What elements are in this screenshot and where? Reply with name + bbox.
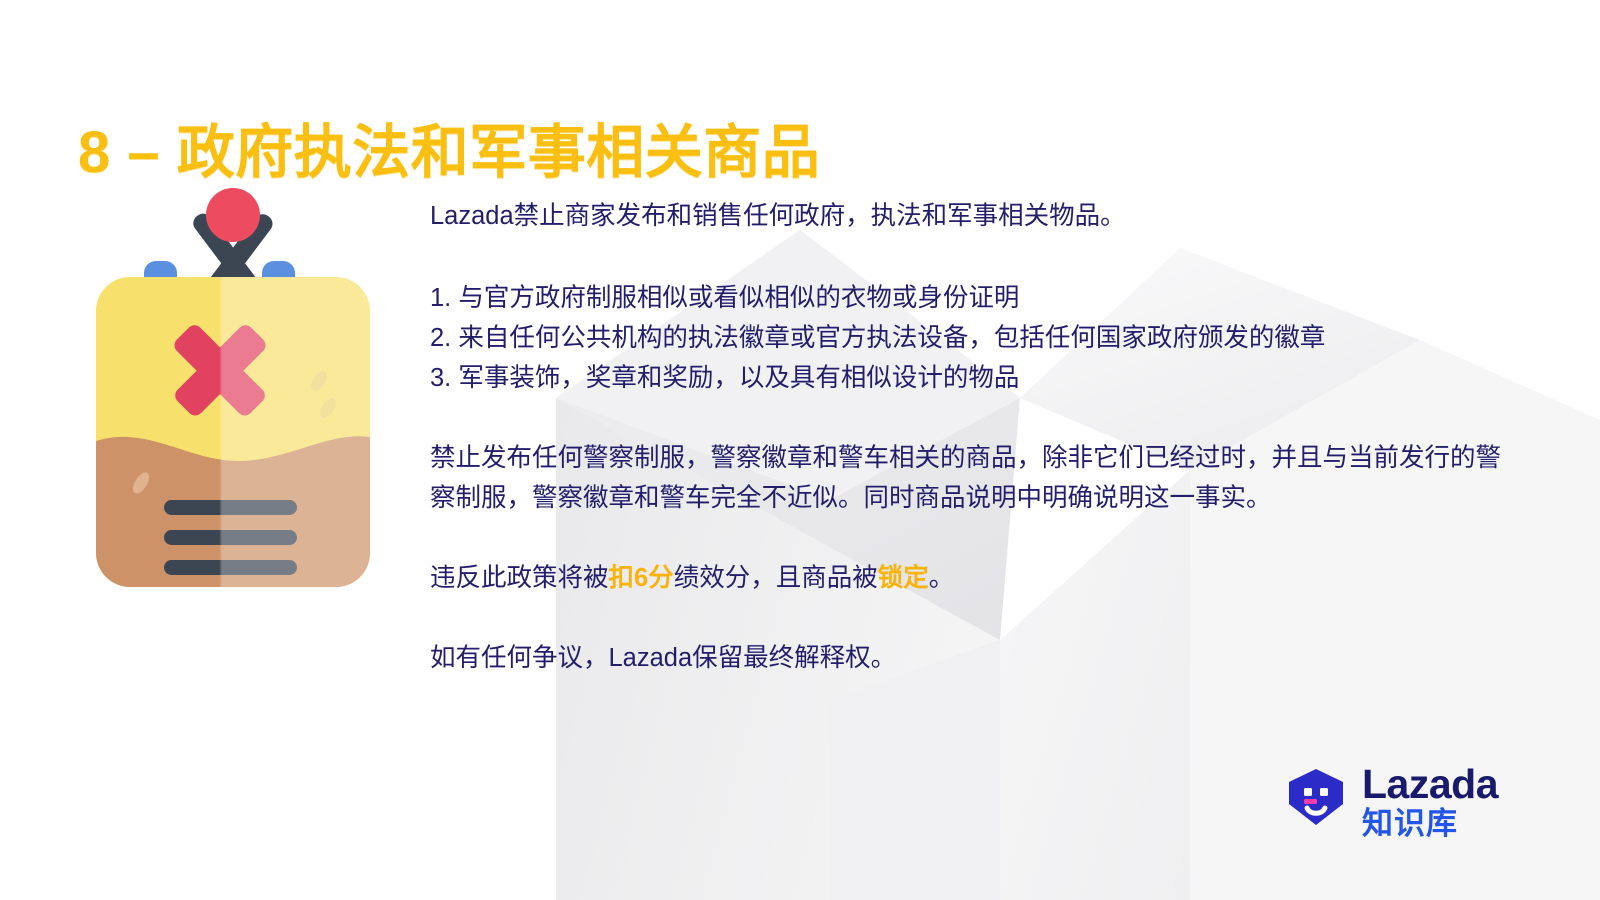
intro-paragraph: Lazada禁止商家发布和销售任何政府，执法和军事相关物品。 — [430, 196, 1510, 236]
lazada-logo: Lazada 知识库 — [1283, 762, 1528, 864]
lazada-heart-smile-icon — [1283, 766, 1349, 828]
disclaimer-paragraph: 如有任何争议，Lazada保留最终解释权。 — [430, 638, 1510, 678]
penalty-points-highlight: 扣6分 — [609, 564, 674, 592]
lazada-subtitle: 知识库 — [1362, 805, 1458, 843]
list-item-3: 3. 军事装饰，奖章和奖励，以及具有相似设计的物品 — [430, 358, 1510, 398]
red-circle-knob — [206, 188, 260, 242]
list-item-2: 2. 来自任何公共机构的执法徽章或官方执法设备，包括任何国家政府颁发的徽章 — [430, 318, 1510, 358]
penalty-suffix: 。 — [929, 564, 955, 592]
lazada-logo-text: Lazada 知识库 — [1362, 762, 1498, 843]
penalty-paragraph: 违反此政策将被扣6分绩效分，且商品被锁定。 — [430, 558, 1510, 598]
police-paragraph: 禁止发布任何警察制服，警察徽章和警车相关的商品，除非它们已经过时，并且与当前发行… — [430, 438, 1510, 518]
hanging-prohibited-badge-illustration — [88, 185, 378, 595]
spacer — [430, 236, 1510, 278]
spacer — [430, 598, 1510, 638]
penalty-prefix: 违反此政策将被 — [430, 564, 609, 592]
page-title: 8 – 政府执法和军事相关商品 — [78, 123, 820, 184]
spacer — [430, 518, 1510, 558]
lazada-wordmark: Lazada — [1362, 762, 1498, 806]
spacer — [430, 398, 1510, 438]
slide-root: 8 – 政府执法和军事相关商品 — [0, 0, 1600, 900]
penalty-lock-highlight: 锁定 — [878, 564, 929, 592]
penalty-middle: 绩效分，且商品被 — [674, 564, 878, 592]
list-item-1: 1. 与官方政府制服相似或看似相似的衣物或身份证明 — [430, 278, 1510, 318]
body-copy: Lazada禁止商家发布和销售任何政府，执法和军事相关物品。 1. 与官方政府制… — [430, 196, 1510, 678]
